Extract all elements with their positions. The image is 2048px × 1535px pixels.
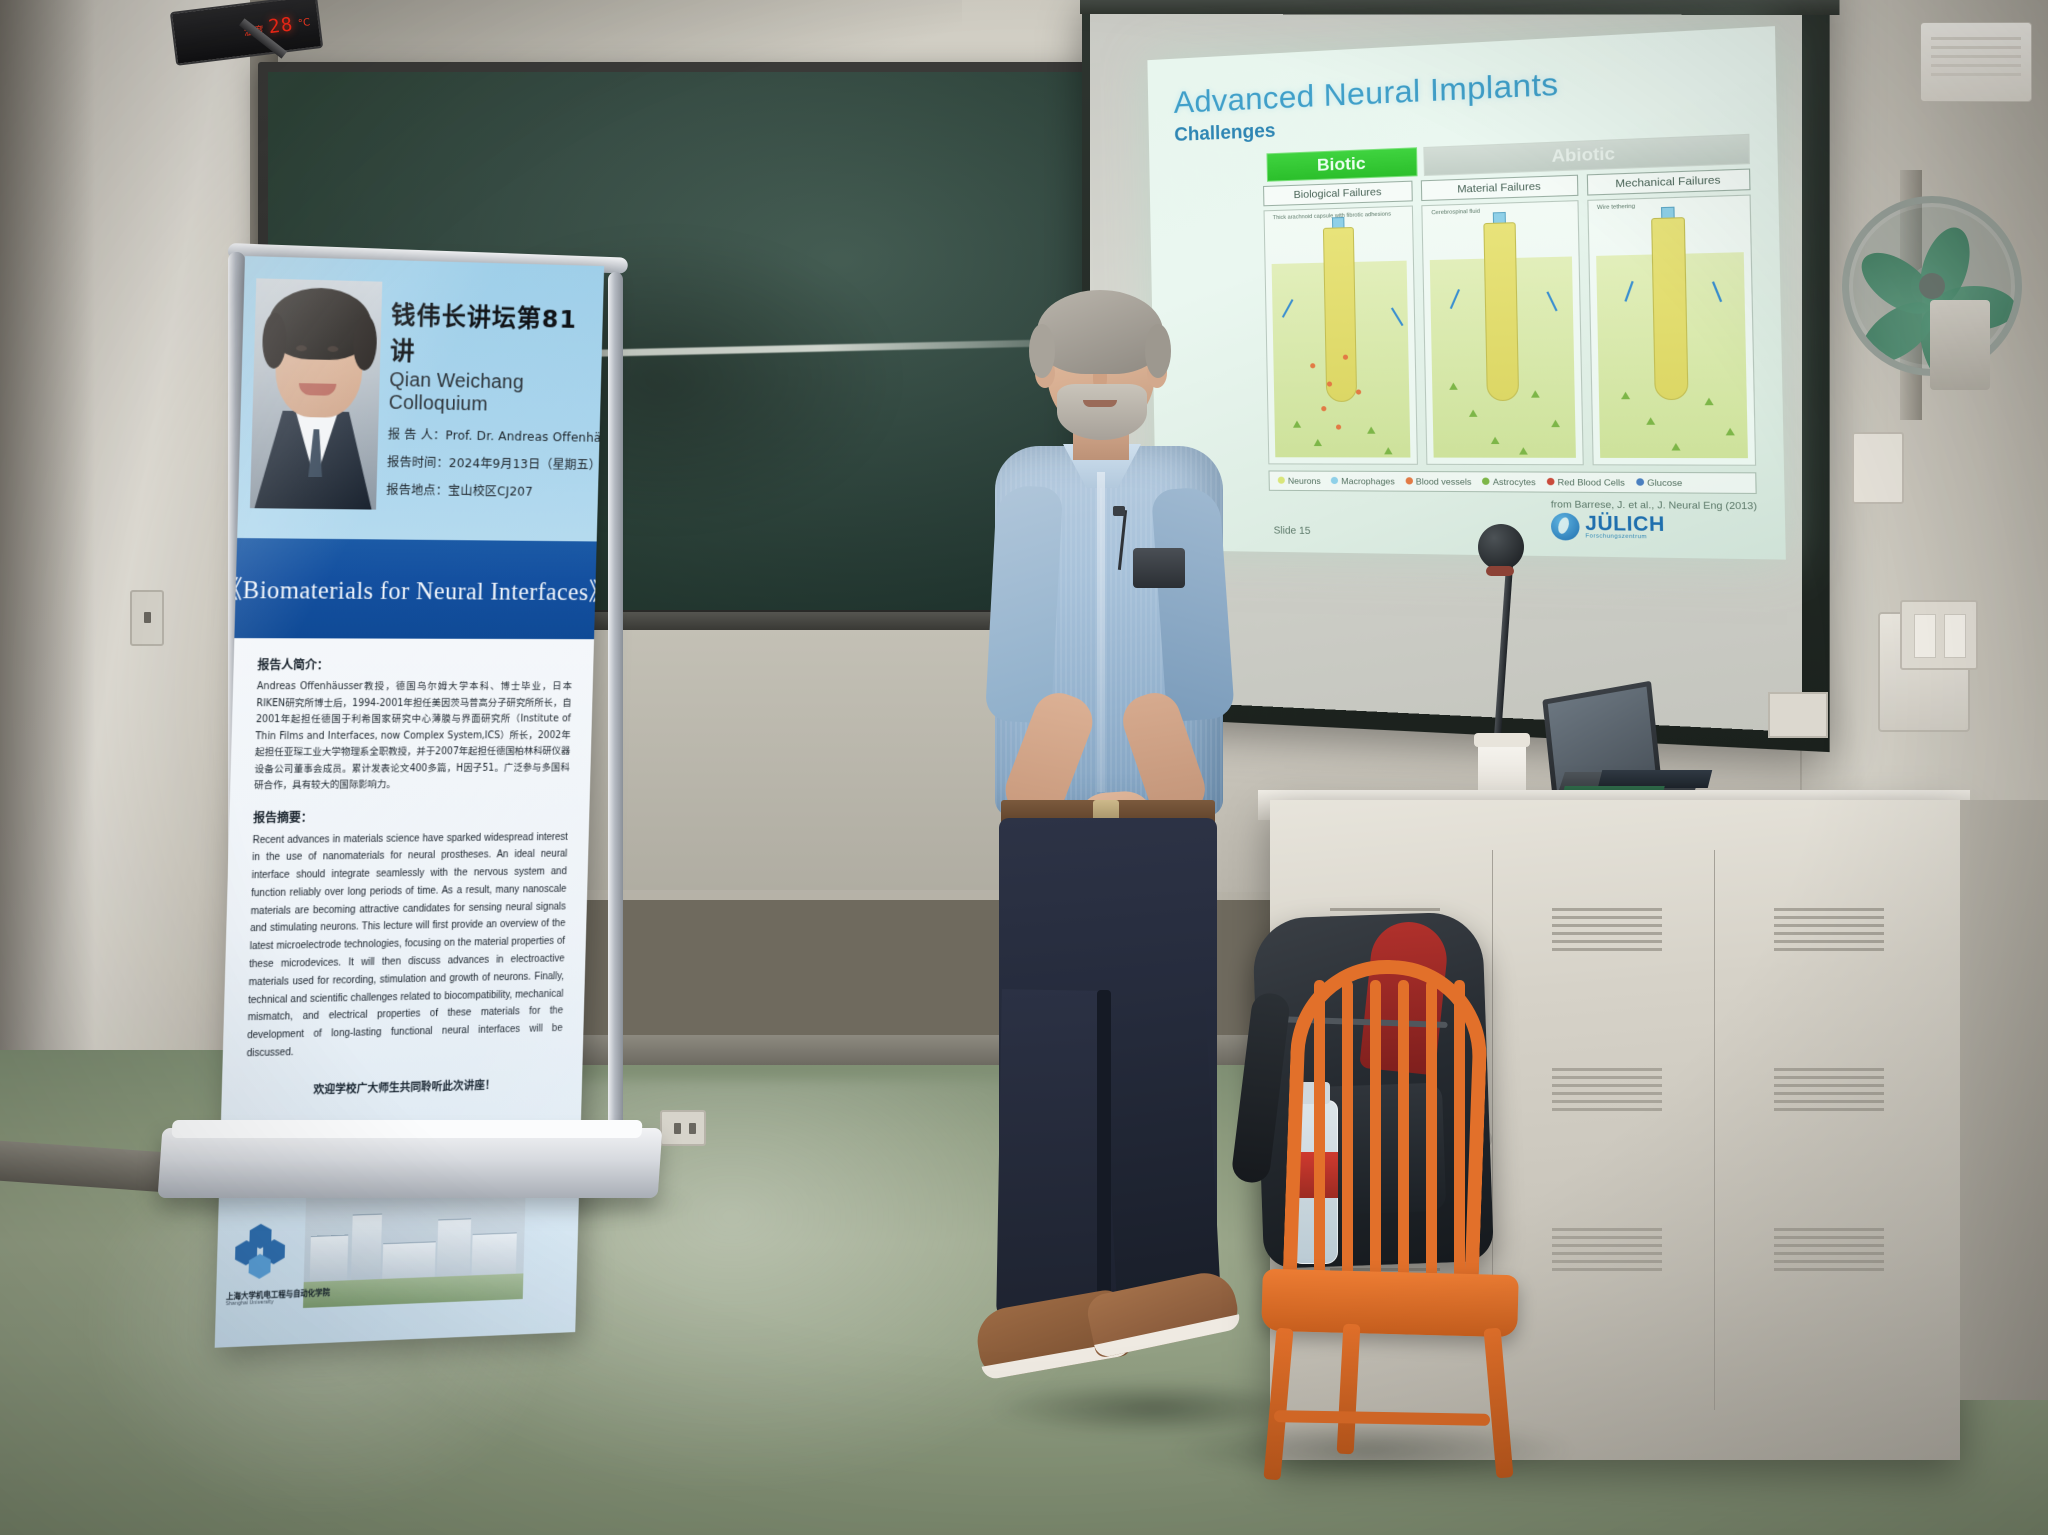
- failure-box-biological: Biological Failures: [1263, 181, 1413, 207]
- poster-title-en: Qian Weichang Colloquium: [388, 369, 591, 418]
- abstract-heading: 报告摘要：: [253, 806, 569, 826]
- speaker-leg-left: [996, 989, 1106, 1321]
- university-logo-icon: [232, 1223, 289, 1281]
- trouser-gap: [1097, 990, 1111, 1300]
- poster-field-venue: 报告地点：宝山校区CJ207: [386, 479, 589, 500]
- clock-unit: °C: [298, 17, 311, 29]
- speaker-shirt-placket: [1097, 472, 1105, 792]
- slide-legend: Neurons Macrophages Blood vessels Astroc…: [1268, 470, 1756, 494]
- legend-item-macrophages: Macrophages: [1331, 476, 1395, 487]
- diagram-panel-mechanical: Wire tethering: [1587, 195, 1756, 466]
- failure-box-mechanical: Mechanical Failures: [1586, 168, 1750, 195]
- wall-control-panel[interactable]: [1852, 432, 1904, 504]
- poster-title-cn: 钱伟长讲坛第81讲: [390, 296, 594, 372]
- mic-transmitter-pack: [1133, 548, 1185, 588]
- poster-field-time: 报告时间：2024年9月13日（星期五）13:00: [387, 451, 590, 473]
- diagram-panel-biological: Thick arachnoid capsule with fibrotic ad…: [1264, 205, 1419, 464]
- julich-logo-text: JÜLICH Forschungszentrum: [1585, 514, 1665, 541]
- fan-hub: [1919, 273, 1945, 299]
- campus-building-photo: [303, 1185, 526, 1308]
- legend-item-glucose: Glucose: [1636, 477, 1682, 488]
- speaker-beard: [1057, 384, 1147, 440]
- slide-diagram-row: Thick arachnoid capsule with fibrotic ad…: [1264, 195, 1757, 466]
- bio-heading: 报告人简介：: [257, 656, 572, 673]
- speaker-portrait: [250, 278, 382, 509]
- chair-seat: [1261, 1269, 1519, 1338]
- poster-header-text: 钱伟长讲坛第81讲 Qian Weichang Colloquium 报 告 人…: [386, 296, 594, 501]
- julich-mark-icon: [1551, 513, 1580, 541]
- poster-pole-right: [608, 272, 623, 1132]
- electrode-tip: [1323, 227, 1357, 402]
- welcome-note: 欢迎学校广大师生共同聆听此次讲座！: [245, 1075, 561, 1099]
- orange-chair[interactable]: [1190, 960, 1520, 1480]
- wall-access-panel: [1768, 692, 1828, 738]
- legend-item-blood-vessels: Blood vessels: [1405, 476, 1471, 487]
- failure-box-material: Material Failures: [1421, 175, 1578, 201]
- poster-header: 钱伟长讲坛第81讲 Qian Weichang Colloquium 报 告 人…: [237, 256, 604, 559]
- poster-field-speaker: 报 告 人：Prof. Dr. Andreas Offenhäusser: [388, 424, 591, 446]
- poster-title-band: 《Biomaterials for Neural Interfaces》: [234, 538, 596, 639]
- lecture-title: 《Biomaterials for Neural Interfaces》: [217, 570, 604, 608]
- wall-socket[interactable]: [660, 1110, 706, 1146]
- julich-logo: JÜLICH Forschungszentrum: [1551, 513, 1758, 543]
- projection-screen-roller: [1080, 0, 1840, 15]
- wall-mounted-unit: [1920, 22, 2032, 102]
- wall-switch[interactable]: [130, 590, 164, 646]
- lecture-hall-scene: 温度 28 °C Advanced Neural Implants Challe…: [0, 0, 2048, 1535]
- lectern-side-panel: [1960, 800, 2048, 1400]
- lavalier-mic-clip: [1113, 506, 1125, 516]
- pillar-shadow: [0, 0, 95, 1210]
- poster-stand-base: [158, 1128, 663, 1198]
- bio-text: Andreas Offenhäusser教授，德国乌尔姆大学本科、博士毕业，日本…: [254, 679, 572, 794]
- slide-credit-block: from Barrese, J. et al., J. Neural Eng (…: [1551, 499, 1758, 543]
- category-biotic: Biotic: [1266, 147, 1417, 182]
- diagram-panel-material: Cerebrospinal fluid: [1422, 200, 1584, 465]
- electrode-tip: [1651, 217, 1688, 400]
- slide-source-citation: from Barrese, J. et al., J. Neural Eng (…: [1551, 499, 1757, 512]
- poster-stand-base-top: [171, 1120, 642, 1138]
- microphone-head: [1478, 524, 1524, 570]
- electrode-tip: [1483, 222, 1519, 401]
- legend-item-rbc: Red Blood Cells: [1547, 477, 1625, 488]
- legend-item-astrocytes: Astrocytes: [1482, 477, 1536, 488]
- fan-motor-housing: [1930, 300, 1990, 390]
- abstract-text: Recent advances in materials science hav…: [246, 829, 568, 1064]
- light-switch-plate[interactable]: [1900, 600, 1978, 670]
- slide-number: Slide 15: [1274, 525, 1311, 537]
- legend-item-neurons: Neurons: [1278, 476, 1321, 486]
- speaker-mouth: [1083, 400, 1117, 407]
- speaker-arm-left: [985, 484, 1063, 723]
- microphone-collar: [1486, 566, 1514, 576]
- slide-footer: Slide 15 from Barrese, J. et al., J. Neu…: [1181, 496, 1758, 543]
- clock-temperature: 28: [267, 13, 294, 38]
- speaker-hair: [1037, 290, 1163, 374]
